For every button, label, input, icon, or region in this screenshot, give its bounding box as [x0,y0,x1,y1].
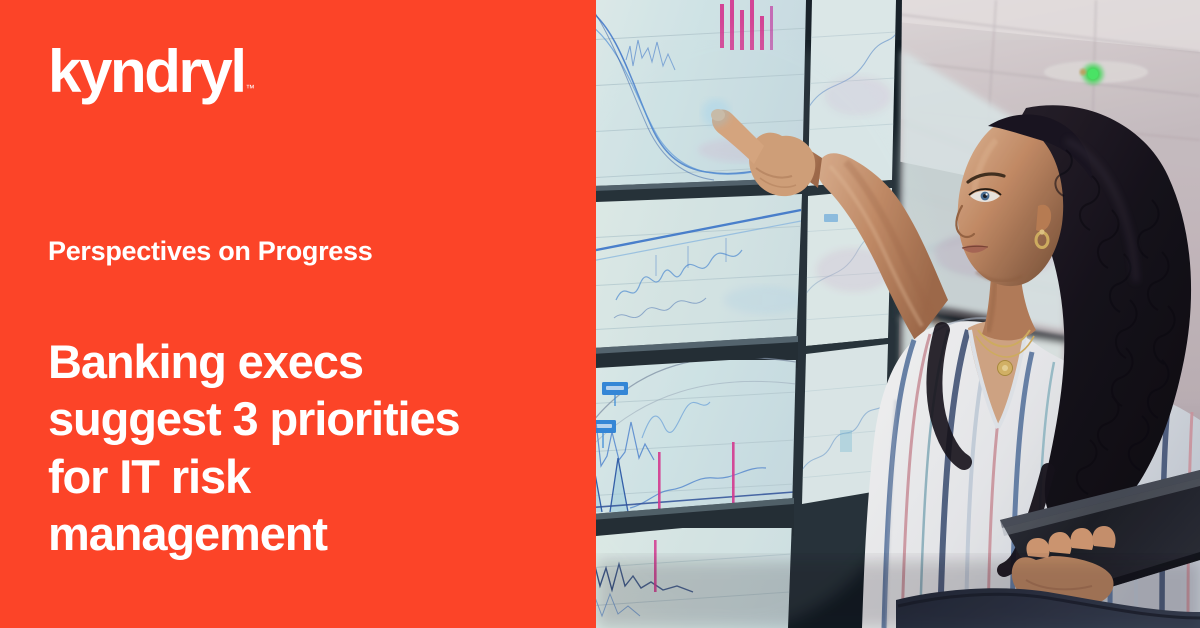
kyndryl-promo-banner: kyndryl ™ Perspectives on Progress Banki… [0,0,1200,628]
trademark-symbol: ™ [246,83,255,93]
kyndryl-logo[interactable]: kyndryl ™ [48,42,255,102]
headline-line-1: Banking execs [48,333,568,390]
orange-content-panel: kyndryl ™ Perspectives on Progress Banki… [0,0,596,628]
headline-line-4: management [48,505,568,562]
series-eyebrow-label: Perspectives on Progress [48,235,372,267]
headline-line-2: suggest 3 priorities [48,390,568,447]
hero-photograph [596,0,1200,628]
headline-line-3: for IT risk [48,448,568,505]
page-title: Banking execs suggest 3 priorities for I… [48,333,568,562]
kyndryl-logo-wordmark: kyndryl [48,42,245,102]
